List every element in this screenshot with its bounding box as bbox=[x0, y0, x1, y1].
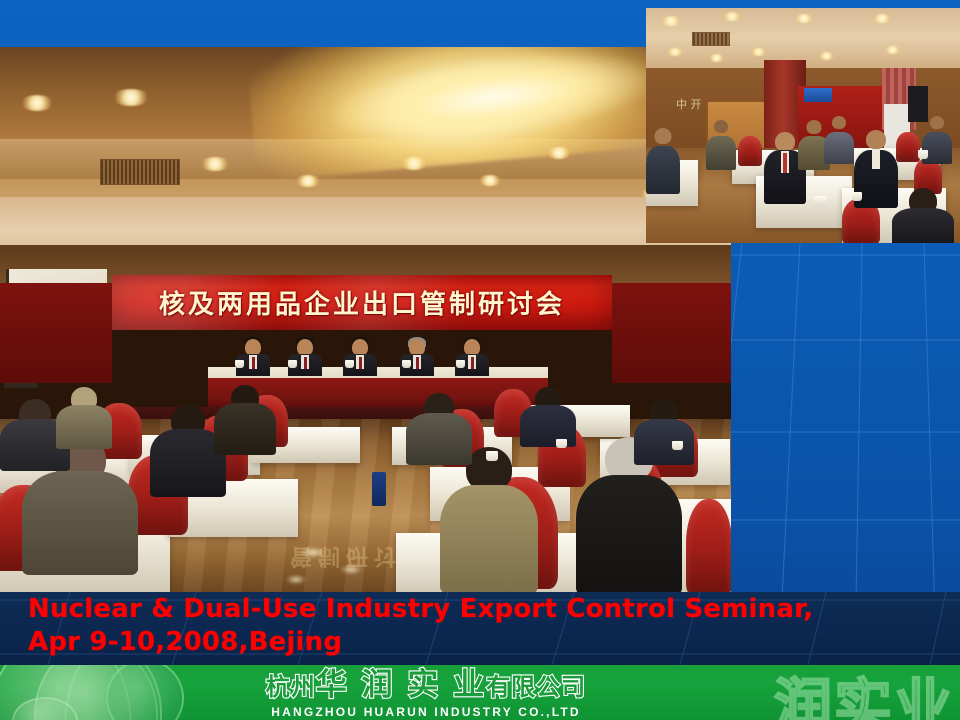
audience-member bbox=[440, 447, 538, 593]
brand-watermark: 润实业 bbox=[774, 665, 954, 720]
audience-member bbox=[214, 385, 276, 455]
audience-member bbox=[520, 387, 576, 447]
banner-title-text: 核及两用品企业出口管制研讨会 bbox=[159, 284, 565, 321]
audience-chair bbox=[686, 499, 731, 595]
company-name-en: HANGZHOU HUARUN INDUSTRY CO.,LTD bbox=[196, 705, 656, 719]
audience-chair bbox=[896, 132, 920, 162]
audience-member bbox=[56, 387, 112, 449]
wall-monitor bbox=[804, 88, 832, 102]
audience-member bbox=[824, 116, 854, 164]
company-footer: 润实业 杭州华 润 实 业有限公司 HANGZHOU HUARUN INDUST… bbox=[0, 665, 960, 720]
floor-standing-sign bbox=[372, 472, 386, 506]
company-name-cn-suffix: 有限公司 bbox=[486, 673, 586, 701]
seminar-red-banner: 核及两用品企业出口管制研讨会 bbox=[112, 275, 612, 330]
caption-line-2: Apr 9-10,2008,Bejing bbox=[28, 626, 342, 659]
wall-logo: 中 开 bbox=[676, 96, 738, 112]
company-name-cn-prefix: 杭州 bbox=[266, 673, 316, 701]
company-name-cn-main: 华 润 实 业 bbox=[316, 667, 486, 703]
slide-caption-band: Nuclear & Dual-Use Industry Export Contr… bbox=[0, 592, 960, 665]
presentation-slide: 核及两用品企业出口管制研讨会 管制研讨 bbox=[0, 0, 960, 720]
audience-member bbox=[706, 120, 736, 170]
audience-member bbox=[646, 128, 680, 194]
audience-member bbox=[406, 393, 472, 465]
audience-member bbox=[634, 399, 694, 465]
company-logo: 杭州华 润 实 业有限公司 HANGZHOU HUARUN INDUSTRY C… bbox=[196, 669, 656, 719]
company-name-cn: 杭州华 润 实 业有限公司 bbox=[196, 669, 656, 704]
globe-decoration bbox=[0, 665, 210, 720]
seminar-attendees-photo: 中 开 bbox=[646, 8, 960, 243]
caption-line-1: Nuclear & Dual-Use Industry Export Contr… bbox=[28, 593, 813, 626]
conference-hall-photo: 核及两用品企业出口管制研讨会 管制研讨 bbox=[0, 47, 731, 595]
audience-chair bbox=[738, 136, 762, 166]
audience-member bbox=[892, 188, 954, 243]
